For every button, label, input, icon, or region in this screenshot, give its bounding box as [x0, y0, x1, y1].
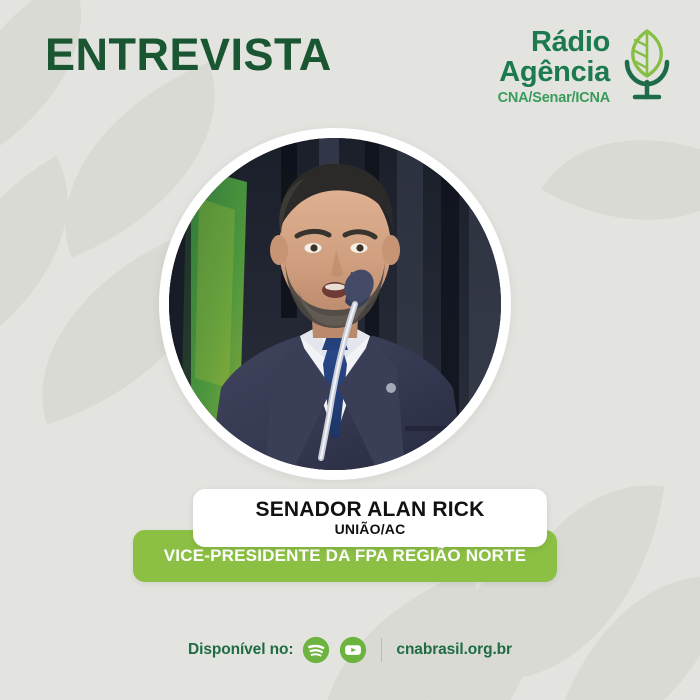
leaf-watermark-4	[284, 570, 516, 700]
name-card: SENADOR ALAN RICK UNIÃO/AC	[193, 489, 547, 547]
youtube-icon[interactable]	[339, 636, 367, 664]
leaf-watermark-8	[541, 86, 700, 275]
spotify-icon[interactable]	[302, 636, 330, 664]
speaker-portrait-photo	[169, 138, 501, 470]
footer-divider	[381, 638, 382, 662]
leaf-watermark-0	[0, 0, 128, 165]
footer-availability-bar: Disponível no: cnabrasil.org.br	[0, 636, 700, 664]
leaf-microphone-icon	[616, 26, 678, 108]
website-link[interactable]: cnabrasil.org.br	[396, 641, 512, 659]
avatar	[169, 138, 501, 470]
speaker-name: SENADOR ALAN RICK	[256, 499, 485, 521]
page-title: ENTREVISTA	[45, 32, 332, 77]
logo-line-agencia: Agência	[498, 58, 610, 87]
radio-agencia-logo: Rádio Agência CNA/Senar/ICNA	[498, 26, 678, 108]
role-badge-label: VICE-PRESIDENTE DA FPA REGIÃO NORTE	[164, 546, 526, 566]
speaker-party: UNIÃO/AC	[335, 522, 406, 537]
social-media-post-card: ENTREVISTA Rádio Agência CNA/Senar/ICNA	[0, 0, 700, 700]
logo-subtitle: CNA/Senar/ICNA	[498, 91, 610, 106]
portrait-frame	[159, 128, 511, 480]
logo-wordmark: Rádio Agência CNA/Senar/ICNA	[498, 26, 610, 106]
logo-line-radio: Rádio	[498, 28, 610, 57]
leaf-watermark-2	[0, 156, 119, 359]
leaf-watermark-6	[553, 547, 700, 700]
footer-label: Disponível no:	[188, 641, 293, 659]
